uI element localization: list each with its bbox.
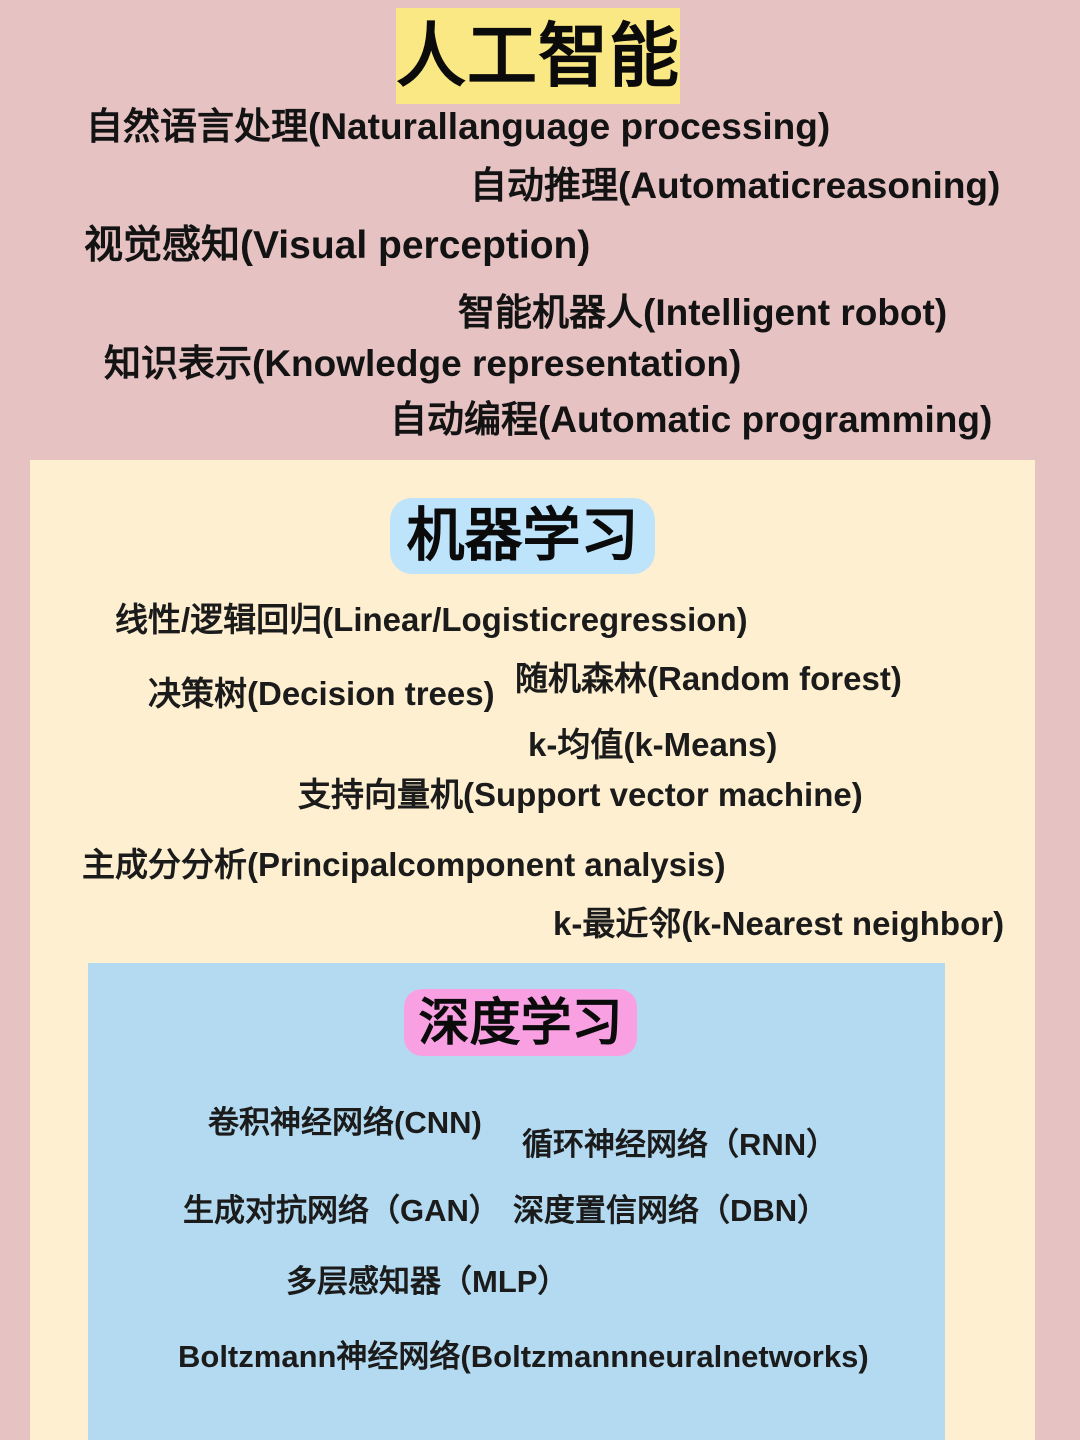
ml-item-linear-logistic-regression: 线性/逻辑回归(Linear/Logisticregression) [115, 603, 748, 636]
infographic-poster: 人工智能 自然语言处理(Naturallanguage processing) … [0, 0, 1080, 1440]
dl-item-rnn: 循环神经网络（RNN） [522, 1129, 837, 1160]
ai-section: 人工智能 自然语言处理(Naturallanguage processing) … [0, 0, 1080, 460]
deep-learning-section: 深度学习 卷积神经网络(CNN) 循环神经网络（RNN） 生成对抗网络（GAN）… [88, 963, 945, 1440]
ai-item-knowledge-representation: 知识表示(Knowledge representation) [104, 345, 741, 382]
ai-section-title: 人工智能 [396, 21, 680, 91]
dl-item-cnn: 卷积神经网络(CNN) [208, 1107, 482, 1138]
ml-item-k-nearest-neighbor: k-最近邻(k-Nearest neighbor) [553, 907, 1004, 940]
machine-learning-section-badge: 机器学习 [390, 498, 655, 574]
ai-section-badge: 人工智能 [396, 8, 680, 104]
ai-item-intelligent-robot: 智能机器人(Intelligent robot) [458, 294, 947, 331]
machine-learning-section-title: 机器学习 [406, 507, 638, 565]
dl-item-gan: 生成对抗网络（GAN） [183, 1195, 500, 1226]
ml-item-random-forest: 随机森林(Random forest) [515, 662, 902, 695]
ai-item-automatic-reasoning: 自动推理(Automaticreasoning) [470, 167, 1000, 204]
ml-item-decision-trees: 决策树(Decision trees) [148, 677, 495, 710]
dl-item-boltzmann-neural-networks: Boltzmann神经网络(Boltzmannneuralnetworks) [178, 1341, 869, 1372]
dl-item-mlp: 多层感知器（MLP） [286, 1266, 568, 1297]
dl-item-dbn: 深度置信网络（DBN） [513, 1195, 828, 1226]
deep-learning-section-title: 深度学习 [418, 997, 622, 1048]
deep-learning-section-badge: 深度学习 [404, 989, 637, 1056]
ai-item-automatic-programming: 自动编程(Automatic programming) [390, 401, 992, 438]
ml-item-k-means: k-均值(k-Means) [528, 728, 777, 761]
ml-item-support-vector-machine: 支持向量机(Support vector machine) [298, 778, 863, 811]
ml-item-principal-component-analysis: 主成分分析(Principalcomponent analysis) [82, 848, 726, 881]
ai-item-natural-language-processing: 自然语言处理(Naturallanguage processing) [86, 108, 830, 145]
ai-item-visual-perception: 视觉感知(Visual perception) [84, 226, 590, 265]
